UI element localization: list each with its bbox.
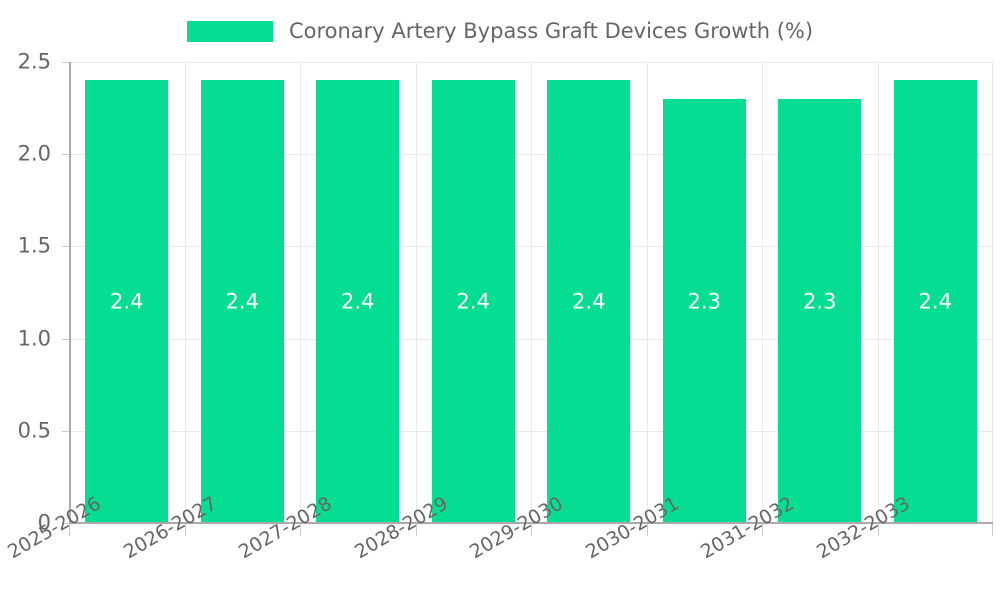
plot-area: 2.42.42.42.42.42.32.32.4 — [69, 62, 993, 523]
y-tick-label: 1.0 — [0, 328, 51, 349]
legend-color-swatch — [187, 21, 273, 42]
bar[interactable] — [316, 80, 399, 523]
x-gridline — [762, 62, 763, 523]
y-axis-labels: 00.51.01.52.02.5 — [0, 0, 60, 600]
y-tick-label: 2.0 — [0, 144, 51, 165]
y-tick-label: 2.5 — [0, 52, 51, 73]
bar[interactable] — [778, 99, 861, 523]
y-tick-mark — [62, 339, 69, 340]
x-gridline — [531, 62, 532, 523]
x-tick-mark — [992, 524, 993, 536]
x-gridline — [185, 62, 186, 523]
bar-chart: Coronary Artery Bypass Graft Devices Gro… — [0, 0, 1000, 600]
bar[interactable] — [85, 80, 168, 523]
chart-legend: Coronary Artery Bypass Graft Devices Gro… — [0, 14, 1000, 48]
y-tick-label: 0.5 — [0, 420, 51, 441]
x-gridline — [992, 62, 993, 523]
x-gridline — [647, 62, 648, 523]
bar[interactable] — [432, 80, 515, 523]
y-axis-spine — [69, 62, 71, 524]
bar[interactable] — [894, 80, 977, 523]
y-tick-mark — [62, 246, 69, 247]
y-tick-label: 1.5 — [0, 236, 51, 257]
y-tick-mark — [62, 431, 69, 432]
bar[interactable] — [663, 99, 746, 523]
legend-label: Coronary Artery Bypass Graft Devices Gro… — [289, 21, 813, 42]
bar[interactable] — [547, 80, 630, 523]
x-gridline — [416, 62, 417, 523]
x-gridline — [878, 62, 879, 523]
bar[interactable] — [201, 80, 284, 523]
y-tick-mark — [62, 154, 69, 155]
x-gridline — [300, 62, 301, 523]
y-tick-mark — [62, 62, 69, 63]
